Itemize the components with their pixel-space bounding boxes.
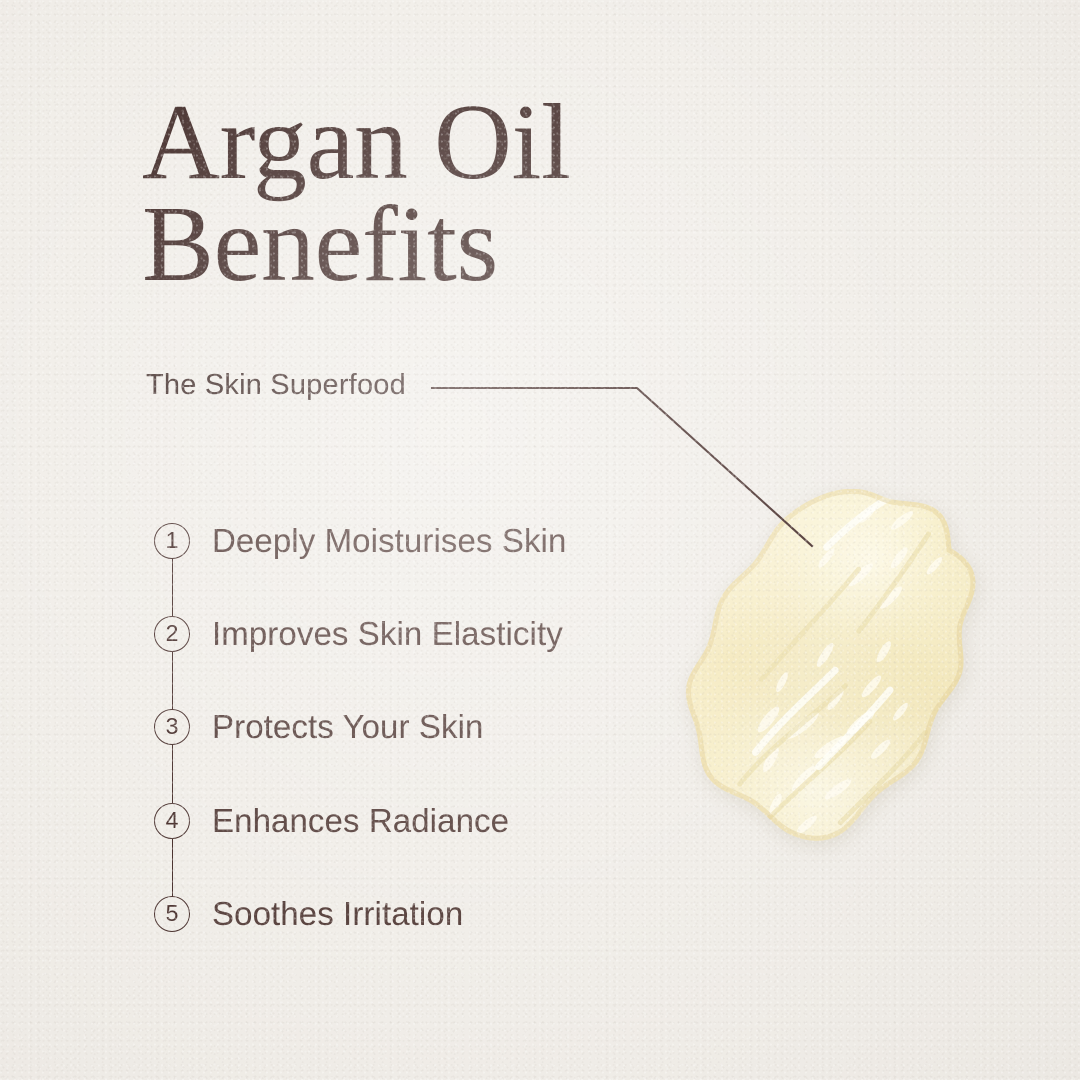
list-item-number-badge: 4: [154, 803, 190, 839]
list-item[interactable]: 1 Deeply Moisturises Skin: [154, 523, 566, 559]
list-item[interactable]: 4 Enhances Radiance: [154, 803, 509, 839]
product-image-container: [641, 489, 1053, 879]
list-item-label: Soothes Irritation: [212, 895, 463, 933]
list-item-number-badge: 3: [154, 709, 190, 745]
list-item-number-badge: 5: [154, 896, 190, 932]
list-item-number-badge: 1: [154, 523, 190, 559]
list-item[interactable]: 3 Protects Your Skin: [154, 709, 483, 745]
list-item[interactable]: 5 Soothes Irritation: [154, 896, 463, 932]
list-item-number-badge: 2: [154, 616, 190, 652]
benefits-list: 1 Deeply Moisturises Skin 2 Improves Ski…: [0, 0, 640, 1080]
list-item-label: Improves Skin Elasticity: [212, 615, 563, 653]
list-item-label: Deeply Moisturises Skin: [212, 522, 566, 560]
list-item-label: Protects Your Skin: [212, 708, 483, 746]
list-item[interactable]: 2 Improves Skin Elasticity: [154, 616, 563, 652]
argan-oil-butter-swatch: [641, 489, 1053, 879]
list-item-label: Enhances Radiance: [212, 802, 509, 840]
